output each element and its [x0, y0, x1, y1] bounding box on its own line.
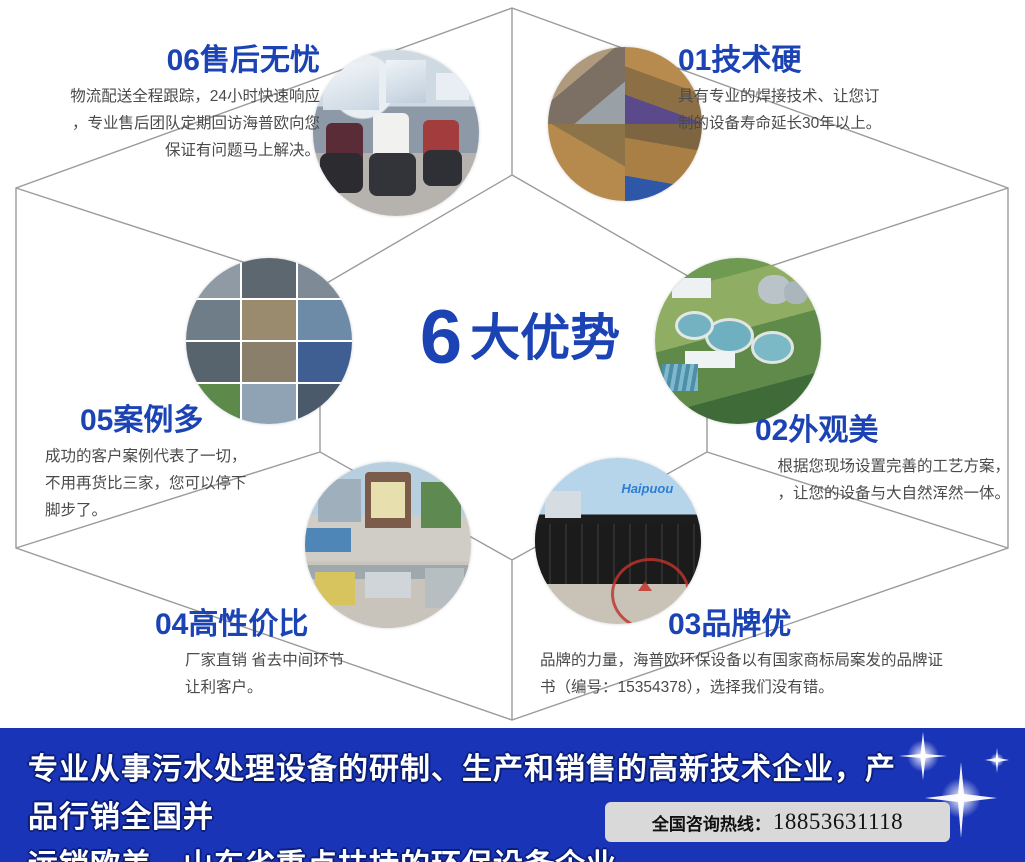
advantage-04: 04高性价比 厂家直销 省去中间环节 让利客户。: [155, 608, 475, 701]
factory-gate-photo: [305, 462, 471, 628]
wastewater-plant-aerial-photo: [655, 258, 821, 424]
advantage-01-number: 01: [678, 44, 711, 77]
black-equipment-trademark-photo: Haipuou: [535, 458, 701, 624]
advantage-04-number: 04: [155, 608, 188, 641]
desc-line: 让利客户。: [185, 674, 475, 701]
desc-line: 制的设备寿命延长30年以上。: [678, 110, 1008, 137]
advantage-03-title: 03品牌优: [668, 608, 1010, 641]
advantage-04-title: 04高性价比: [155, 608, 475, 641]
desc-line: 成功的客户案例代表了一切，: [45, 443, 345, 470]
advantage-05: 05案例多 成功的客户案例代表了一切， 不用再货比三家，您可以停下 脚步了。: [45, 404, 345, 524]
center-title: 大优势: [470, 313, 620, 363]
advantage-05-desc: 成功的客户案例代表了一切， 不用再货比三家，您可以停下 脚步了。: [45, 443, 345, 524]
desc-line: 书（编号：15354378），选择我们没有错。: [540, 674, 1010, 701]
hotline-label: 全国咨询热线：: [652, 810, 771, 835]
advantage-03: 03品牌优 品牌的力量，海普欧环保设备以有国家商标局案发的品牌证 书（编号：15…: [540, 608, 1010, 701]
advantage-06-number: 06: [167, 44, 200, 77]
advantage-01-desc: 具有专业的焊接技术、让您订 制的设备寿命延长30年以上。: [678, 83, 1008, 137]
advantage-06-title: 06售后无忧: [20, 44, 320, 77]
desc-line: 根据您现场设置完善的工艺方案，: [700, 453, 1010, 480]
advantage-04-desc: 厂家直销 省去中间环节 让利客户。: [185, 647, 475, 701]
brand-logo-text: Haipuou: [621, 481, 673, 496]
case-collage-photo: [186, 258, 352, 424]
stamp-star-icon: [638, 581, 652, 591]
hotline-number: 18853631118: [773, 809, 903, 835]
advantage-02-desc: 根据您现场设置完善的工艺方案， ，让您的设备与大自然浑然一体。: [700, 453, 1010, 507]
desc-line: 物流配送全程跟踪，24小时快速响应: [20, 83, 320, 110]
hotline-badge[interactable]: 全国咨询热线： 18853631118: [605, 802, 950, 842]
advantage-05-title: 05案例多: [80, 404, 345, 437]
sparkle-icon: [985, 748, 1009, 773]
infographic-root: 6 大优势 06售后无忧 物流配送全程跟踪，24小时快速响应 ，专业售后团队定期…: [0, 0, 1025, 862]
desc-line: 脚步了。: [45, 497, 345, 524]
advantage-03-number: 03: [668, 608, 701, 641]
desc-line: 品牌的力量，海普欧环保设备以有国家商标局案发的品牌证: [540, 647, 1010, 674]
center-label: 6 大优势: [380, 288, 660, 388]
advantage-01-title: 01技术硬: [678, 44, 1008, 77]
advantage-01: 01技术硬 具有专业的焊接技术、让您订 制的设备寿命延长30年以上。: [678, 44, 1008, 137]
desc-line: 厂家直销 省去中间环节: [185, 647, 475, 674]
desc-line: 不用再货比三家，您可以停下: [45, 470, 345, 497]
advantage-06: 06售后无忧 物流配送全程跟踪，24小时快速响应 ，专业售后团队定期回访海普欧向…: [20, 44, 320, 164]
advantage-03-desc: 品牌的力量，海普欧环保设备以有国家商标局案发的品牌证 书（编号：15354378…: [540, 647, 1010, 701]
desc-line: ，让您的设备与大自然浑然一体。: [700, 480, 1010, 507]
advantage-02: 02外观美 根据您现场设置完善的工艺方案， ，让您的设备与大自然浑然一体。: [700, 414, 1010, 507]
desc-line: 具有专业的焊接技术、让您订: [678, 83, 1008, 110]
advantage-05-number: 05: [80, 404, 113, 437]
desc-line: 保证有问题马上解决。: [20, 137, 320, 164]
advantage-02-title: 02外观美: [755, 414, 1010, 447]
center-number: 6: [420, 300, 460, 376]
office-staff-photo: [313, 50, 479, 216]
banner-line: 远销欧美，山东省重点扶持的环保设备企业。: [28, 842, 908, 862]
advantage-06-desc: 物流配送全程跟踪，24小时快速响应 ，专业售后团队定期回访海普欧向您 保证有问题…: [20, 83, 320, 164]
advantage-02-number: 02: [755, 414, 788, 447]
desc-line: ，专业售后团队定期回访海普欧向您: [20, 110, 320, 137]
